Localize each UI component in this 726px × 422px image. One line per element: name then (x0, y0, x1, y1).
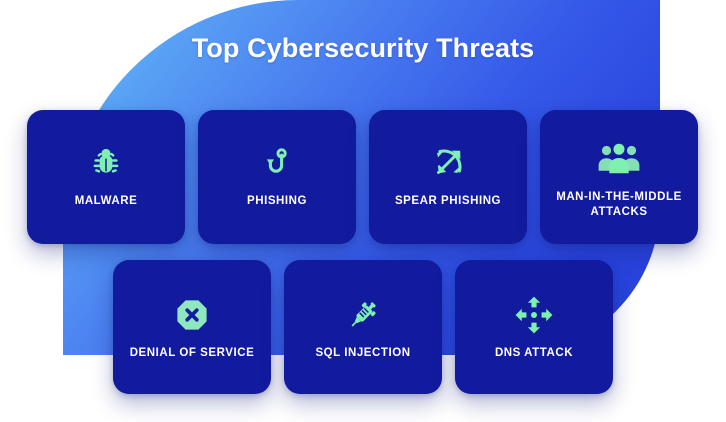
threat-card-dns-attack[interactable]: DNS ATTACK (455, 260, 613, 394)
threat-card-label: SQL INJECTION (284, 346, 442, 361)
three-people-icon (540, 132, 698, 190)
octagon-x-icon (113, 284, 271, 346)
infographic-canvas: Top Cybersecurity Threats M (0, 0, 726, 422)
bow-and-arrow-icon (369, 132, 527, 194)
threat-card-label: DENIAL OF SERVICE (113, 346, 271, 361)
threat-card-spear-phishing[interactable]: SPEAR PHISHING (369, 110, 527, 244)
page-title: Top Cybersecurity Threats (0, 33, 726, 64)
threat-card-label: DNS ATTACK (455, 346, 613, 361)
fish-hook-icon (198, 132, 356, 194)
four-way-arrows-icon (455, 284, 613, 346)
threat-card-label: MAN-IN-THE-MIDDLE ATTACKS (540, 190, 698, 220)
threat-card-label: MALWARE (27, 194, 185, 209)
bug-icon (27, 132, 185, 194)
threat-card-label: SPEAR PHISHING (369, 194, 527, 209)
threat-card-malware[interactable]: MALWARE (27, 110, 185, 244)
syringe-icon (284, 284, 442, 346)
threat-card-label: PHISHING (198, 194, 356, 209)
threat-card-denial-of-service[interactable]: DENIAL OF SERVICE (113, 260, 271, 394)
threat-card-sql-injection[interactable]: SQL INJECTION (284, 260, 442, 394)
threat-card-phishing[interactable]: PHISHING (198, 110, 356, 244)
threat-card-man-in-the-middle[interactable]: MAN-IN-THE-MIDDLE ATTACKS (540, 110, 698, 244)
